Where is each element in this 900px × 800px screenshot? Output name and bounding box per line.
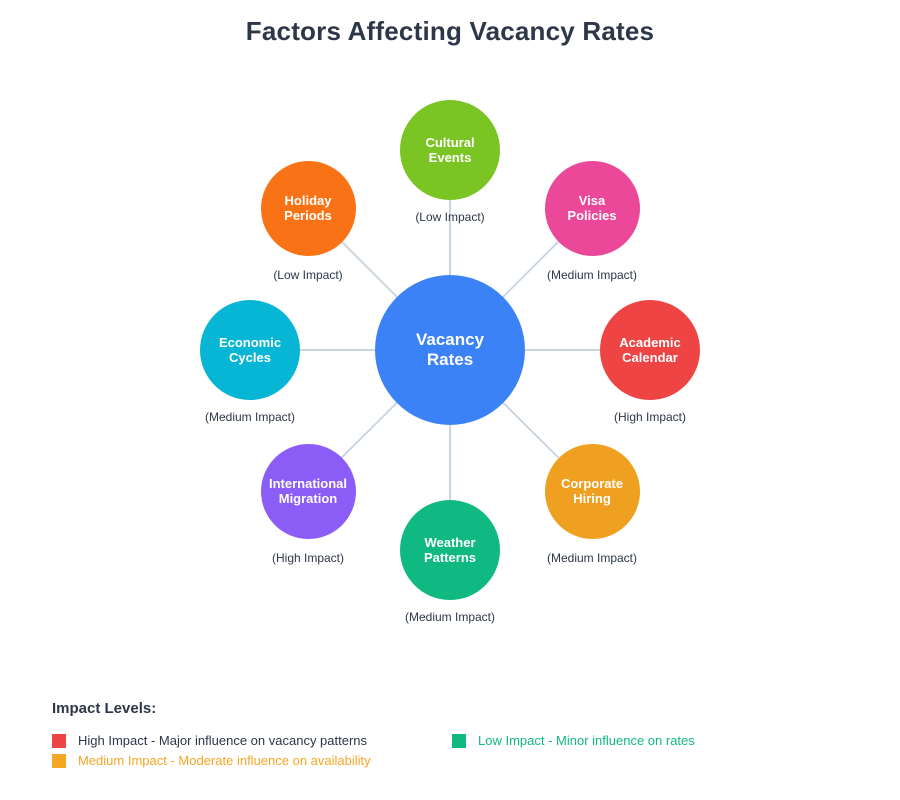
legend-item-high: High Impact - Major influence on vacancy… [52, 733, 367, 748]
node-corporate-hiring[interactable]: Corporate Hiring [545, 444, 640, 539]
impact-caption-economic-cycles: (Medium Impact) [150, 410, 350, 424]
node-label: Academic Calendar [613, 335, 686, 366]
impact-caption-corporate-hiring: (Medium Impact) [492, 551, 692, 565]
node-label: Economic Cycles [213, 335, 287, 366]
legend-label-low: Low Impact - Minor influence on rates [478, 733, 695, 748]
impact-caption-academic-calendar: (High Impact) [550, 410, 750, 424]
radial-diagram: Vacancy RatesCultural Events(Low Impact)… [0, 60, 900, 640]
node-academic-calendar[interactable]: Academic Calendar [600, 300, 700, 400]
node-vacancy-rates[interactable]: Vacancy Rates [375, 275, 525, 425]
impact-caption-weather-patterns: (Medium Impact) [350, 610, 550, 624]
node-label: Visa Policies [561, 193, 622, 224]
impact-caption-international-migration: (High Impact) [208, 551, 408, 565]
legend-items: High Impact - Major influence on vacancy… [52, 733, 872, 777]
node-cultural-events[interactable]: Cultural Events [400, 100, 500, 200]
legend-label-high: High Impact - Major influence on vacancy… [78, 733, 367, 748]
legend-item-low: Low Impact - Minor influence on rates [452, 733, 695, 748]
page-title: Factors Affecting Vacancy Rates [0, 16, 900, 47]
node-international-migration[interactable]: International Migration [261, 444, 356, 539]
impact-caption-holiday-periods: (Low Impact) [208, 268, 408, 282]
impact-caption-visa-policies: (Medium Impact) [492, 268, 692, 282]
legend: Impact Levels: High Impact - Major influ… [52, 700, 872, 777]
node-label: Vacancy Rates [410, 330, 490, 370]
node-economic-cycles[interactable]: Economic Cycles [200, 300, 300, 400]
legend-swatch-low [452, 734, 466, 748]
node-visa-policies[interactable]: Visa Policies [545, 161, 640, 256]
legend-swatch-high [52, 734, 66, 748]
node-holiday-periods[interactable]: Holiday Periods [261, 161, 356, 256]
legend-swatch-medium [52, 754, 66, 768]
node-label: International Migration [263, 476, 353, 507]
node-label: Corporate Hiring [555, 476, 629, 507]
legend-title: Impact Levels: [52, 700, 872, 717]
node-label: Holiday Periods [278, 193, 338, 224]
node-label: Weather Patterns [418, 535, 482, 566]
legend-label-medium: Medium Impact - Moderate influence on av… [78, 753, 371, 768]
impact-caption-cultural-events: (Low Impact) [350, 210, 550, 224]
legend-item-medium: Medium Impact - Moderate influence on av… [52, 753, 371, 768]
node-label: Cultural Events [419, 135, 480, 166]
node-weather-patterns[interactable]: Weather Patterns [400, 500, 500, 600]
